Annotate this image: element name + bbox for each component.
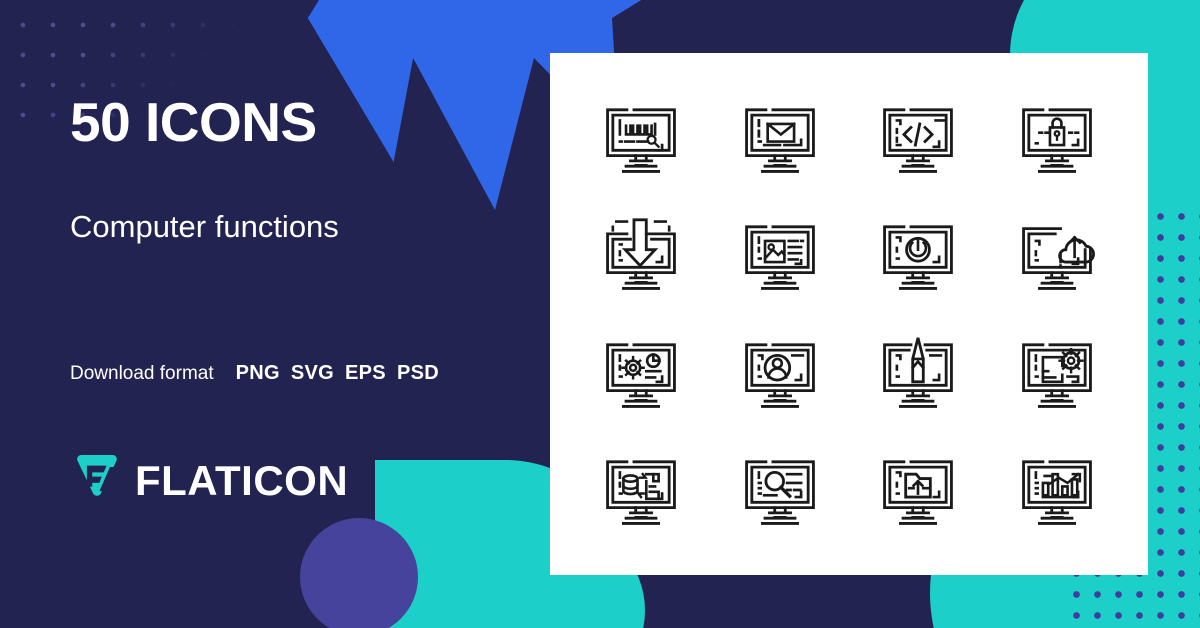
format-png: PNG xyxy=(236,362,280,385)
icon-preview-card xyxy=(550,53,1148,575)
monitor-email-icon xyxy=(711,79,850,197)
monitor-download-icon xyxy=(572,197,711,315)
download-format-row: Download format PNG SVG EPS PSD xyxy=(70,362,439,385)
monitor-cloud-upload-icon xyxy=(988,197,1127,315)
format-svg: SVG xyxy=(291,362,334,385)
format-psd: PSD xyxy=(397,362,439,385)
monitor-bar-chart-growth-icon xyxy=(988,432,1127,550)
monitor-www-search-icon xyxy=(572,79,711,197)
monitor-power-icon xyxy=(849,197,988,315)
monitor-folder-upload-icon xyxy=(849,432,988,550)
monitor-lock-security-icon xyxy=(988,79,1127,197)
monitor-user-profile-icon xyxy=(711,314,850,432)
monitor-document-settings-icon xyxy=(988,314,1127,432)
flaticon-logo-icon xyxy=(72,455,122,507)
text-column: 50 ICONS Computer functions Download for… xyxy=(0,0,560,628)
monitor-code-icon xyxy=(849,79,988,197)
flaticon-logo: FLATICON xyxy=(72,455,348,507)
monitor-search-magnifier-icon xyxy=(711,432,850,550)
banner-root: 50 ICONS Computer functions Download for… xyxy=(0,0,1200,628)
icon-grid xyxy=(550,53,1148,575)
page-title: 50 ICONS xyxy=(70,95,317,150)
page-subtitle: Computer functions xyxy=(70,211,339,242)
download-format-label: Download format xyxy=(70,363,214,385)
monitor-image-gallery-icon xyxy=(711,197,850,315)
monitor-database-sync-icon xyxy=(572,432,711,550)
format-eps: EPS xyxy=(345,362,386,385)
monitor-settings-analytics-icon xyxy=(572,314,711,432)
monitor-pencil-design-icon xyxy=(849,314,988,432)
flaticon-wordmark: FLATICON xyxy=(135,460,348,502)
